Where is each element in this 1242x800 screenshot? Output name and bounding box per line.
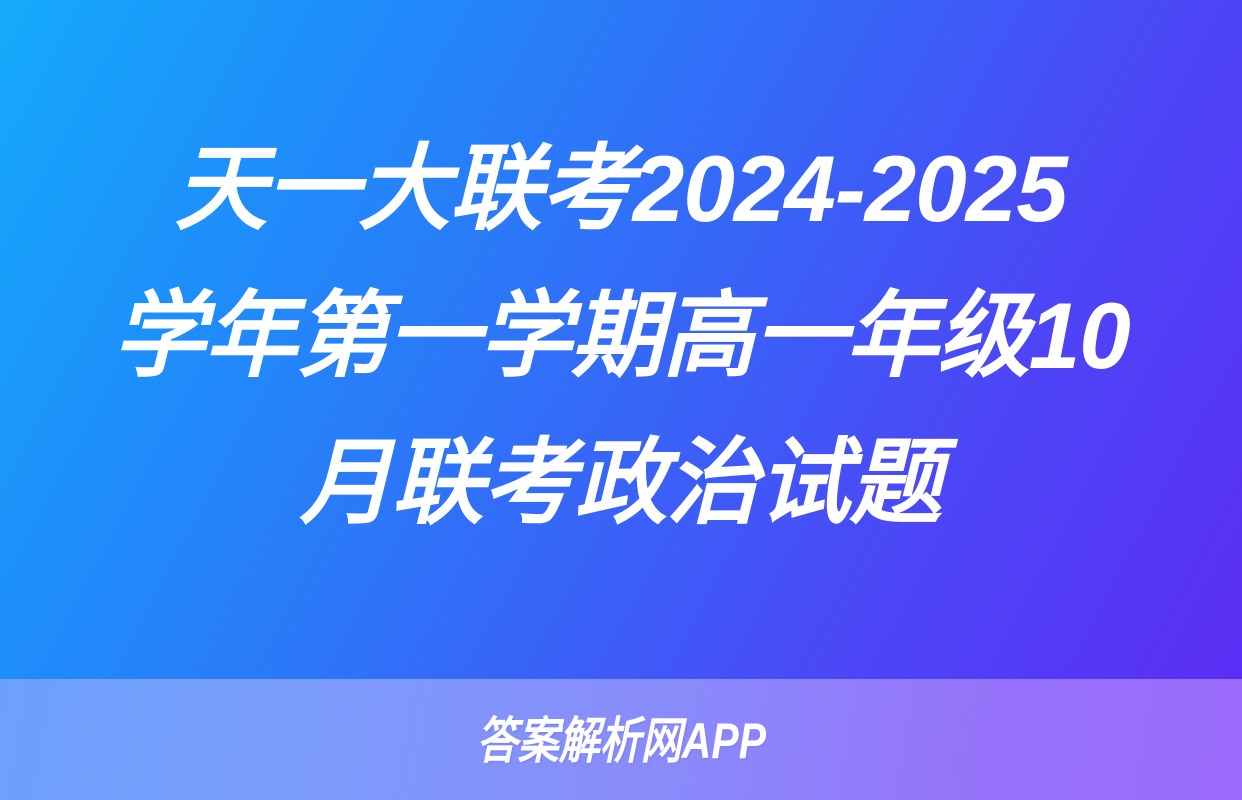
- title-line-2: 学年第一学期高一年级10: [112, 262, 1129, 409]
- poster-canvas: 天一大联考2024-2025 学年第一学期高一年级10 月联考政治试题 答案解析…: [0, 0, 1242, 800]
- title-line-1: 天一大联考2024-2025: [175, 115, 1067, 262]
- poster-title: 天一大联考2024-2025 学年第一学期高一年级10 月联考政治试题: [0, 0, 1242, 679]
- footer-brand-band: 答案解析网APP: [0, 679, 1242, 800]
- app-brand-label: 答案解析网APP: [476, 716, 765, 766]
- title-line-3: 月联考政治试题: [300, 409, 941, 556]
